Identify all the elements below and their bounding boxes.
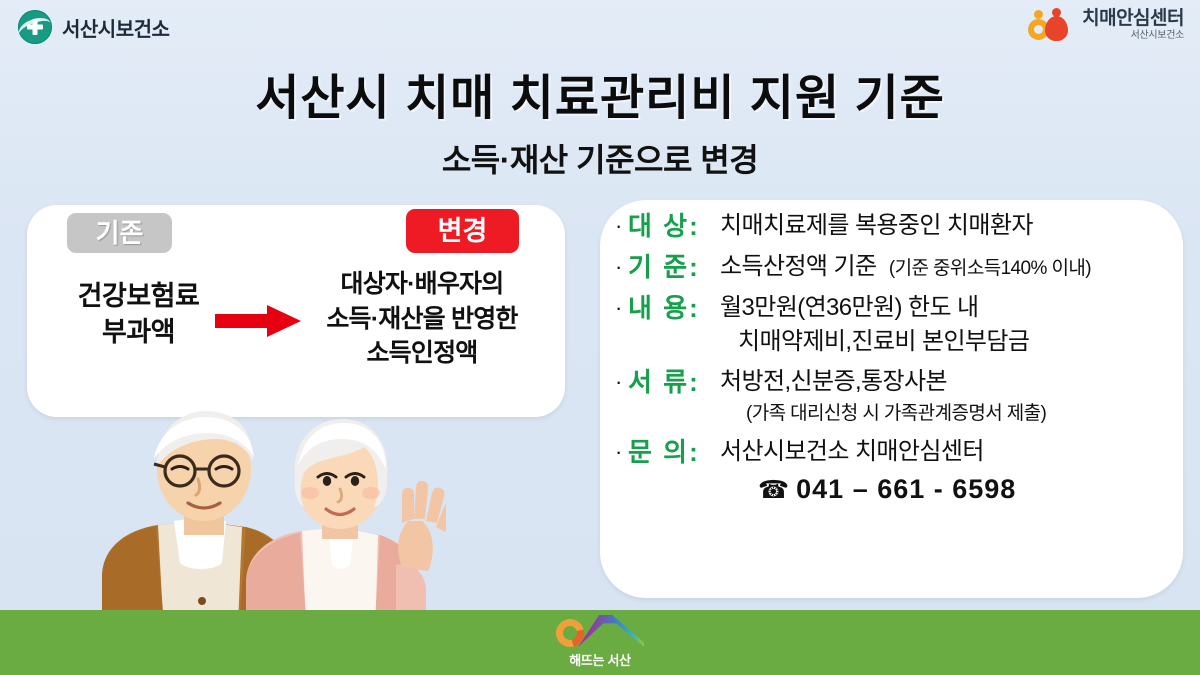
info-value-content: 월3만원(연36만원) 한도 내 — [720, 294, 978, 321]
info-label-contact: 문 의: — [628, 435, 720, 469]
info-value-documents: 처방전,신분증,통장사본 — [720, 368, 947, 395]
header-right-text-block: 치매안심센터 서산시보건소 — [1082, 9, 1184, 41]
info-label-target: 대 상: — [628, 209, 720, 243]
new-criteria-line-3: 소득인정액 — [291, 336, 553, 371]
sunrise-swoosh-logo — [554, 613, 646, 649]
bullet-icon: · — [615, 209, 628, 243]
info-list: · 대 상: 치매치료제를 복용중인 치매환자 · 기 준: 소득산정액 기준 … — [615, 209, 1190, 517]
old-criteria-line-2: 부과액 — [41, 315, 236, 351]
two-people-embrace-icon — [1027, 8, 1073, 42]
page-subtitle: 소득·재산 기준으로 변경 — [0, 135, 1200, 181]
city-brand-text: 해뜨는 서산 — [535, 650, 665, 669]
info-value-contact: 서산시보건소 치매안심센터 — [720, 438, 984, 465]
change-comparison-card: 기존 변경 건강보험료 부과액 대상자·배우자의 소득·재산을 반영한 소득인정… — [27, 205, 565, 417]
right-arrow-icon — [215, 305, 301, 337]
new-criteria-line-1: 대상자·배우자의 — [291, 267, 553, 302]
info-label-documents: 서 류: — [628, 365, 720, 399]
info-label-criteria: 기 준: — [628, 250, 720, 284]
info-note-documents: (가족 대리신청 시 가족관계증명서 제출) — [720, 403, 1046, 424]
bullet-icon: · — [615, 250, 628, 284]
header-right-brand: 치매안심센터 — [1082, 9, 1184, 29]
header-right-suborg: 서산시보건소 — [1082, 31, 1184, 42]
info-row-documents: · 서 류: 처방전,신분증,통장사본 (가족 대리신청 시 가족관계증명서 제… — [615, 365, 1190, 428]
old-criteria-line-1: 건강보험료 — [41, 279, 236, 315]
info-value-target: 치매치료제를 복용중인 치매환자 — [720, 212, 1033, 239]
bullet-icon: · — [615, 435, 628, 469]
contact-phone-line[interactable]: ☎041 – 661 - 6598 — [720, 474, 1016, 504]
status-badge-new: 변경 — [406, 209, 519, 253]
old-criteria-text: 건강보험료 부과액 — [41, 279, 236, 350]
info-row-target: · 대 상: 치매치료제를 복용중인 치매환자 — [615, 209, 1190, 243]
info-body-criteria: 소득산정액 기준 (기준 중위소득140% 이내) — [720, 250, 1190, 284]
new-criteria-text: 대상자·배우자의 소득·재산을 반영한 소득인정액 — [291, 267, 553, 371]
info-note-criteria: (기준 중위소득140% 이내) — [881, 258, 1091, 279]
info-body-documents: 처방전,신분증,통장사본 (가족 대리신청 시 가족관계증명서 제출) — [720, 365, 1190, 428]
info-value-criteria: 소득산정액 기준 — [720, 253, 876, 280]
health-center-cross-logo — [18, 10, 52, 44]
info-body-content: 월3만원(연36만원) 한도 내 치매약제비,진료비 본인부담금 — [720, 291, 1190, 358]
info-value-content-line2: 치매약제비,진료비 본인부담금 — [720, 328, 1029, 355]
info-row-contact: · 문 의: 서산시보건소 치매안심센터 ☎041 – 661 - 6598 — [615, 435, 1190, 510]
info-row-criteria: · 기 준: 소득산정액 기준 (기준 중위소득140% 이내) — [615, 250, 1190, 284]
poster-canvas: 서산시보건소 치매안심센터 서산시보건소 서산시 치매 치료관리비 지원 기준 … — [0, 0, 1200, 675]
logo-swoosh-decor — [16, 14, 55, 44]
header-left-branding: 서산시보건소 — [18, 10, 169, 44]
contact-phone-number: 041 – 661 - 6598 — [796, 474, 1016, 504]
info-body-target: 치매치료제를 복용중인 치매환자 — [720, 209, 1190, 243]
new-criteria-line-2: 소득·재산을 반영한 — [291, 302, 553, 337]
info-body-contact: 서산시보건소 치매안심센터 ☎041 – 661 - 6598 — [720, 435, 1190, 510]
city-brand-logo: 해뜨는 서산 — [535, 613, 665, 669]
info-label-content: 내 용: — [628, 291, 720, 325]
bullet-icon: · — [615, 291, 628, 325]
header-right-branding: 치매안심센터 서산시보건소 — [1027, 8, 1184, 42]
status-badge-old: 기존 — [67, 213, 172, 253]
bullet-icon: · — [615, 365, 628, 399]
page-title: 서산시 치매 치료관리비 지원 기준 — [0, 58, 1200, 128]
header-left-org-name: 서산시보건소 — [62, 13, 169, 42]
info-row-content: · 내 용: 월3만원(연36만원) 한도 내 치매약제비,진료비 본인부담금 — [615, 291, 1190, 358]
telephone-icon: ☎ — [758, 476, 790, 504]
